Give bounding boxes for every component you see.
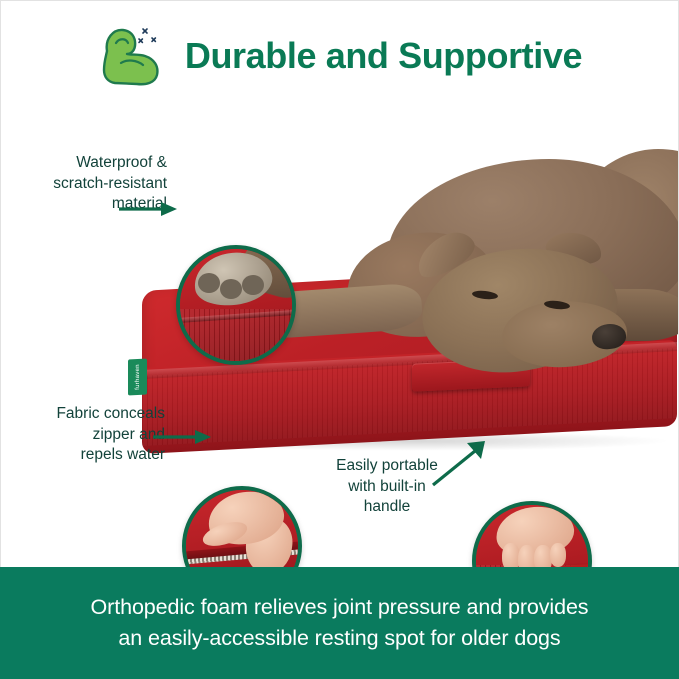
paw-toe — [242, 275, 264, 295]
header: Durable and Supportive — [1, 15, 679, 97]
banner-text: Orthopedic foam relieves joint pressure … — [91, 592, 589, 653]
callout-line: handle — [319, 497, 455, 518]
hand-finger — [550, 543, 566, 567]
arrow-up-right-icon — [431, 439, 487, 487]
flexed-bicep-icon — [99, 21, 169, 87]
brand-tag: furhaven — [128, 359, 147, 396]
arrow-right-icon — [119, 201, 177, 217]
callout-line: scratch-resistant — [19, 174, 167, 195]
callout-line: Fabric conceals — [7, 404, 165, 425]
callout-circle-waterproof — [176, 245, 296, 365]
paw-toe — [220, 279, 242, 299]
fabric-rib-texture — [176, 309, 296, 361]
callout-circle-handle — [472, 501, 592, 567]
callout-label-zipper: Fabric conceals zipper and repels water — [7, 404, 165, 466]
banner-line: an easily-accessible resting spot for ol… — [118, 626, 560, 650]
callout-circle-zipper — [182, 486, 302, 567]
callout-line: zipper and — [7, 425, 165, 446]
bottom-banner: Orthopedic foam relieves joint pressure … — [0, 567, 679, 679]
callout-line: Waterproof & — [19, 153, 167, 174]
infographic-page: Durable and Supportive furhaven — [0, 0, 679, 679]
banner-line: Orthopedic foam relieves joint pressure … — [91, 595, 589, 619]
paw-toe — [198, 273, 220, 293]
photo-area: Durable and Supportive furhaven — [0, 0, 679, 567]
page-title: Durable and Supportive — [185, 35, 582, 77]
callout-line: repels water — [7, 445, 165, 466]
brand-tag-label: furhaven — [135, 364, 141, 390]
arrow-right-icon — [153, 429, 211, 445]
